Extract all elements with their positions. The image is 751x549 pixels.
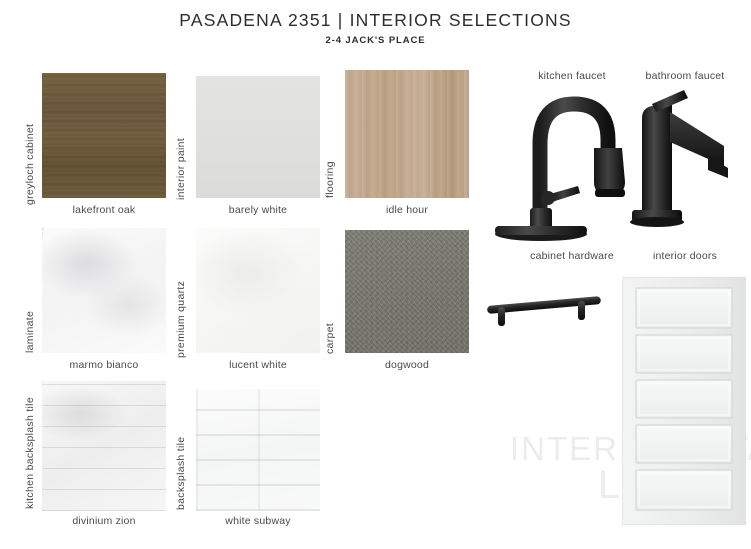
category-label-laminate: laminate [24, 278, 36, 353]
fixture-label-bathroom-faucet: bathroom faucet [620, 70, 750, 82]
page-title: PASADENA 2351 | INTERIOR SELECTIONS [0, 10, 751, 31]
category-label-interior-paint: interior paint [175, 110, 187, 200]
category-label-greyloch-cabinet: greyloch cabinet [24, 95, 36, 205]
category-label-backsplash-tile: backsplash tile [175, 418, 187, 510]
swatch-backsplash-tile[interactable] [196, 389, 320, 511]
category-label-carpet: carpet [324, 296, 336, 354]
swatch-caption-divinium-zion: divinium zion [42, 515, 166, 527]
swatch-caption-marmo-bianco: marmo bianco [42, 359, 166, 371]
interior-door-image[interactable] [622, 277, 746, 525]
swatch-kitchen-backsplash-tile[interactable] [42, 381, 166, 511]
cabinet-hardware-image[interactable] [484, 292, 604, 336]
swatch-caption-lucent-white: lucent white [196, 359, 320, 371]
interior-selections-board: PASADENA 2351 | INTERIOR SELECTIONS 2-4 … [0, 0, 751, 549]
swatch-caption-white-subway: white subway [196, 515, 320, 527]
swatch-caption-idle-hour: idle hour [345, 204, 469, 216]
category-label-premium-quartz: premium quartz [175, 258, 187, 358]
category-label-kitchen-backsplash-tile: kitchen backsplash tile [24, 381, 36, 509]
swatch-caption-barely-white: barely white [196, 204, 320, 216]
swatch-greyloch-cabinet[interactable] [42, 73, 166, 198]
swatch-flooring[interactable] [345, 70, 469, 198]
swatch-premium-quartz[interactable] [196, 228, 320, 353]
category-label-flooring: flooring [324, 128, 336, 198]
fixture-label-interior-doors: interior doors [620, 250, 750, 262]
swatch-carpet[interactable] [345, 230, 469, 353]
swatch-caption-lakefront-oak: lakefront oak [42, 204, 166, 216]
swatch-laminate[interactable] [42, 228, 166, 353]
board-header: PASADENA 2351 | INTERIOR SELECTIONS 2-4 … [0, 10, 751, 46]
page-subtitle: 2-4 JACK'S PLACE [0, 35, 751, 46]
swatch-caption-dogwood: dogwood [345, 359, 469, 371]
bathroom-faucet-image[interactable] [612, 84, 742, 234]
swatch-interior-paint[interactable] [196, 76, 320, 198]
